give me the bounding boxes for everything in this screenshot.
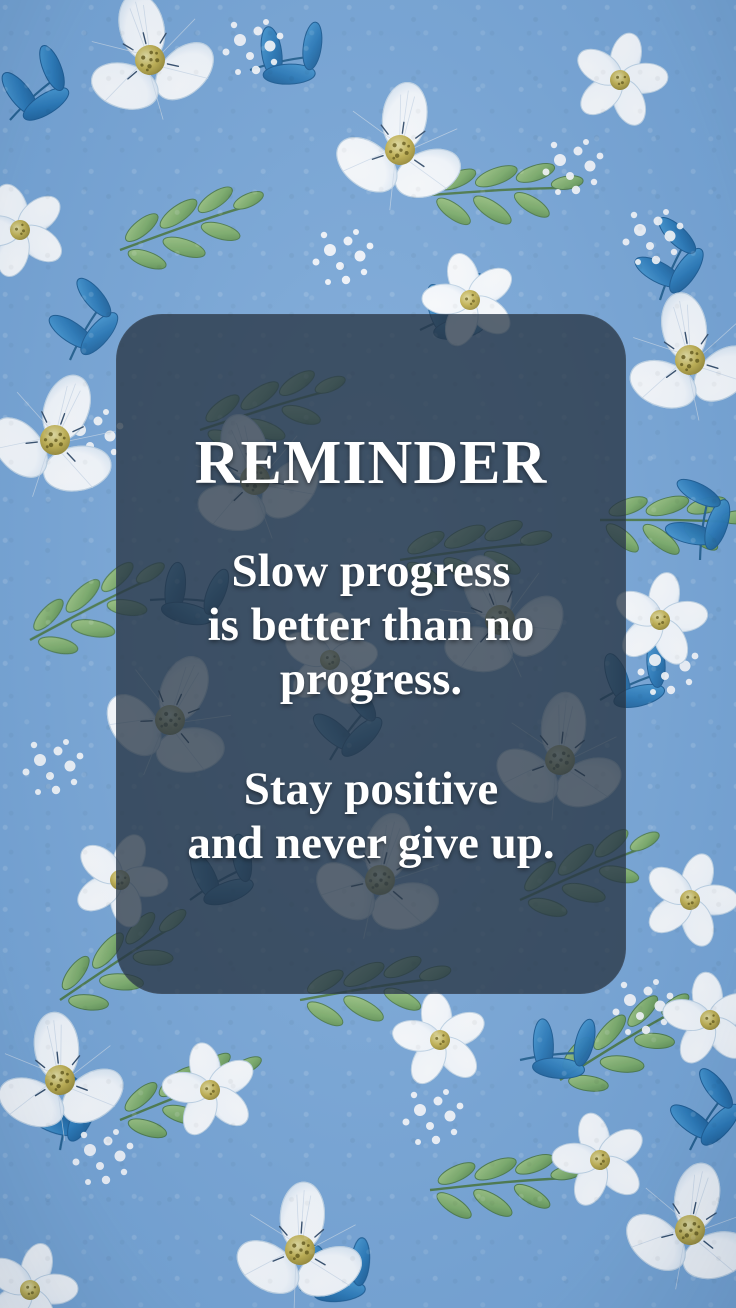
quote-line: and never give up.	[134, 816, 608, 870]
quote-paragraph-2: Stay positive and never give up.	[134, 762, 608, 870]
poster-canvas: REMINDER Slow progress is better than no…	[0, 0, 736, 1308]
quote-line: is better than no	[134, 598, 608, 652]
quote-line: Slow progress	[134, 544, 608, 598]
reminder-title: REMINDER	[134, 432, 608, 494]
quote-paragraph-1: Slow progress is better than no progress…	[134, 544, 608, 706]
quote-card: REMINDER Slow progress is better than no…	[116, 314, 626, 994]
quote-card-content: REMINDER Slow progress is better than no…	[134, 314, 608, 870]
quote-line: progress.	[134, 652, 608, 706]
quote-line: Stay positive	[134, 762, 608, 816]
